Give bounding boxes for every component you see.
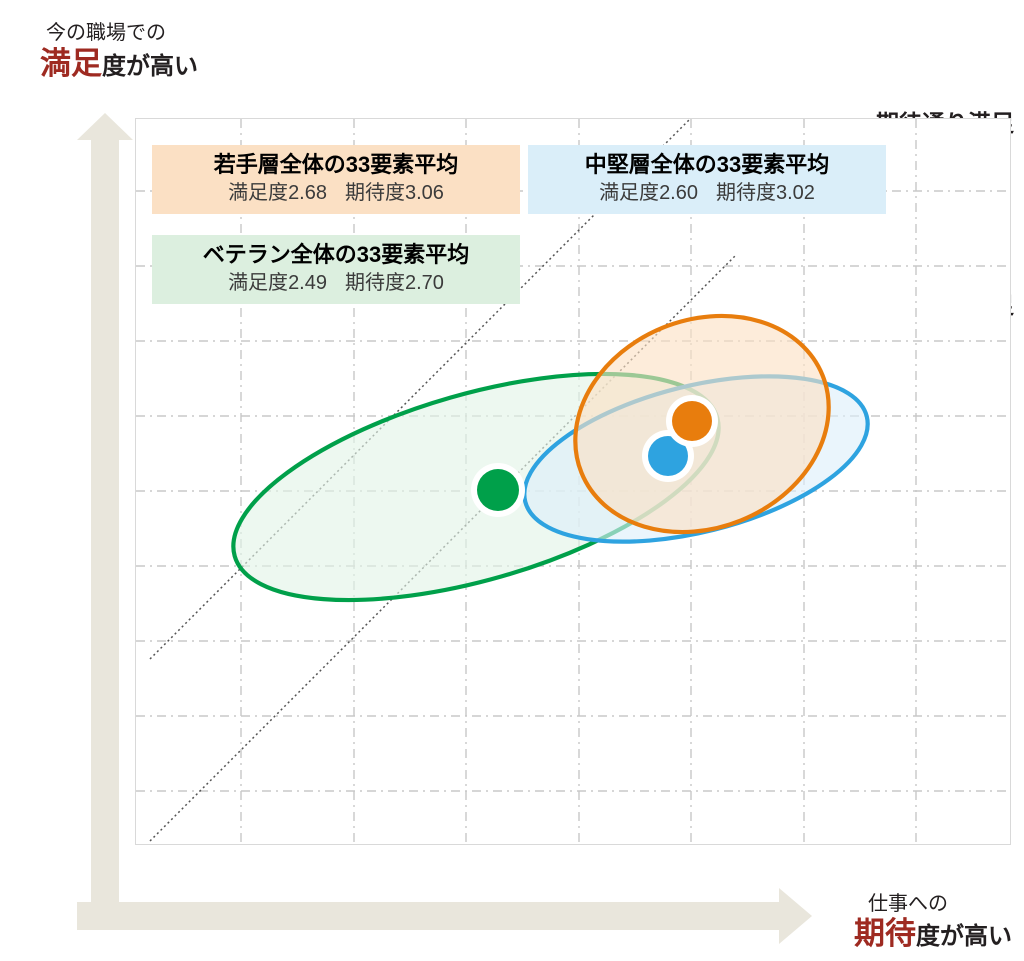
- cluster-ellipses: [209, 279, 884, 646]
- callout-veteran-expectation-value: 2.70: [405, 272, 444, 294]
- y-axis-tail: 度が高い: [102, 53, 198, 80]
- callout-mid-satisfaction-label: 満足度: [599, 182, 659, 204]
- y-axis-label: 今の職場での 満足度が高い: [40, 22, 198, 82]
- callout-veteran-title: ベテラン全体の33要素平均: [166, 241, 506, 269]
- callout-young-title: 若手層全体の33要素平均: [166, 151, 506, 179]
- callout-veteran-expectation-label: 期待度: [345, 272, 405, 294]
- cluster-marker[interactable]: [477, 469, 519, 511]
- callout-veteran-satisfaction-value: 2.49: [288, 272, 327, 294]
- plot-area: [135, 118, 1011, 845]
- plot-canvas: [136, 119, 1011, 845]
- callout-veteran-satisfaction-label: 満足度: [228, 272, 288, 294]
- x-axis-tail: 度が高い: [916, 923, 1012, 950]
- callout-young[interactable]: 若手層全体の33要素平均 満足度2.68期待度3.06: [152, 145, 520, 214]
- callout-mid[interactable]: 中堅層全体の33要素平均 満足度2.60期待度3.02: [528, 145, 886, 214]
- callout-young-expectation-value: 3.06: [405, 182, 444, 204]
- x-axis-label-line2: 期待度が高い: [854, 916, 1012, 953]
- callout-mid-expectation-value: 3.02: [776, 182, 815, 204]
- cluster-marker[interactable]: [672, 401, 712, 441]
- x-axis-label: 仕事への 期待度が高い: [854, 893, 1012, 953]
- y-axis-label-line2: 満足度が高い: [40, 46, 198, 83]
- x-axis-label-line1: 仕事への: [854, 893, 962, 917]
- callout-young-satisfaction-label: 満足度: [228, 182, 288, 204]
- callout-mid-title: 中堅層全体の33要素平均: [542, 151, 872, 179]
- x-axis-accent: 期待: [854, 916, 916, 951]
- callout-mid-expectation-label: 期待度: [716, 182, 776, 204]
- y-axis-label-line1: 今の職場での: [46, 22, 198, 46]
- y-axis-arrow: [77, 113, 133, 930]
- callout-mid-stats: 満足度2.60期待度3.02: [542, 180, 872, 206]
- callout-young-satisfaction-value: 2.68: [288, 182, 327, 204]
- callout-veteran[interactable]: ベテラン全体の33要素平均 満足度2.49期待度2.70: [152, 235, 520, 304]
- callout-mid-satisfaction-value: 2.60: [659, 182, 698, 204]
- callout-young-expectation-label: 期待度: [345, 182, 405, 204]
- x-axis-arrow: [77, 888, 812, 944]
- callout-veteran-stats: 満足度2.49期待度2.70: [166, 270, 506, 296]
- callout-young-stats: 満足度2.68期待度3.06: [166, 180, 506, 206]
- chart-stage: 今の職場での 満足度が高い 仕事への 期待度が高い 期待通り満足 期待の約8割満…: [0, 0, 1024, 961]
- y-axis-accent: 満足: [40, 46, 102, 81]
